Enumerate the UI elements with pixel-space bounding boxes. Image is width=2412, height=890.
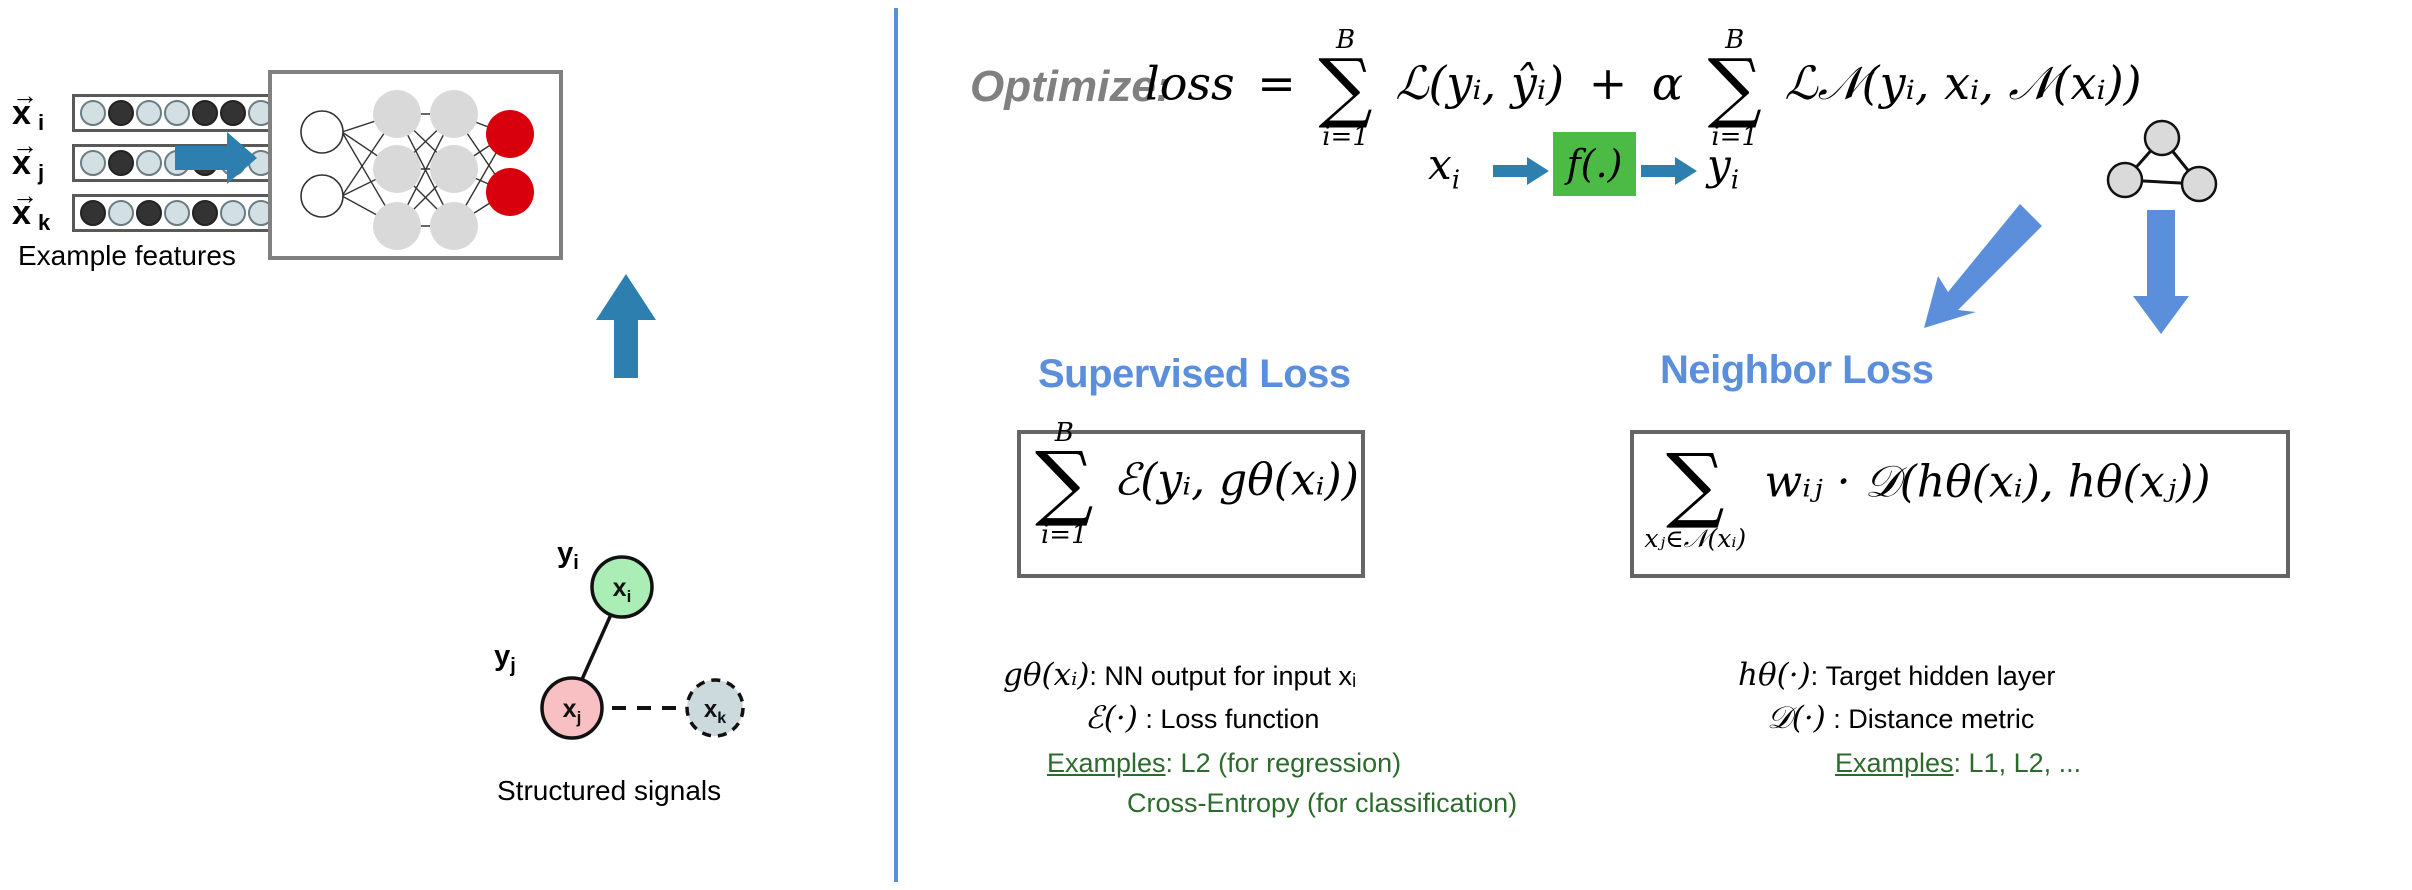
feature-bit — [164, 100, 190, 126]
vector-label: → x k — [8, 188, 60, 240]
supervised-sum-upper: B — [1055, 418, 1074, 448]
formula-term-2: ℒ𝒩(yᵢ, xᵢ, 𝒩(xᵢ)) — [1776, 56, 2141, 110]
neural-network-box — [268, 70, 563, 260]
feature-bit — [136, 200, 162, 226]
vector-label-base: x — [12, 96, 31, 130]
supervised-examples-text-1: : L2 (for regression) — [1166, 748, 1402, 778]
neighbor-loss-formula: ∑ xⱼ∈𝒩(xᵢ) wᵢⱼ · 𝒟(hθ(xᵢ), hθ(xⱼ)) — [1666, 450, 2210, 520]
structured-signals-caption: Structured signals — [497, 775, 721, 807]
formula-term-1: ℒ(yᵢ, ŷᵢ) — [1387, 56, 1564, 110]
vector-label-subscript: j — [38, 162, 44, 184]
formula-plus: + — [1579, 56, 1638, 110]
optimize-label: Optimize: — [970, 62, 1170, 112]
main-loss-formula: loss = B ∑ i=1 ℒ(yᵢ, ŷᵢ) + α B ∑ i=1 ℒ𝒩(… — [1145, 55, 2142, 120]
feature-bit — [220, 100, 246, 126]
graph-label-yi: yi — [557, 537, 579, 574]
feature-bit — [220, 200, 246, 226]
supervised-legend-1-math: gθ(xᵢ) — [1003, 657, 1089, 693]
neighbor-legend-line-2: 𝒟(·) : Distance metric — [1767, 700, 2034, 737]
supervised-examples-label: Examples — [1047, 748, 1166, 778]
supervised-legend-1-text: : NN output for input xᵢ — [1089, 661, 1356, 691]
nn-hidden-node — [373, 202, 421, 250]
vector-label-subscript: i — [38, 112, 44, 134]
supervised-branch-arrow-icon — [1910, 200, 2050, 335]
supervised-examples-line-1: Examples: L2 (for regression) — [1047, 748, 1401, 779]
feature-bit — [136, 100, 162, 126]
supervised-loss-box: B ∑ i=1 ℰ(yᵢ, gθ(xᵢ)) — [1017, 430, 1365, 578]
structured-signals-graph: xi xj xk yi yj — [480, 500, 800, 760]
supervised-legend-2-text: : Loss function — [1138, 704, 1320, 734]
nn-output-node — [486, 110, 534, 158]
neighbor-legend-line-1: hθ(·): Target hidden layer — [1738, 657, 2055, 693]
feature-bit-container — [72, 194, 284, 232]
nn-hidden-node — [430, 202, 478, 250]
feature-bit — [136, 150, 162, 176]
summation-1: B ∑ i=1 — [1318, 55, 1372, 120]
formula-lhs: loss — [1145, 56, 1235, 110]
summation-1-upper: B — [1336, 25, 1355, 55]
nn-hidden-node — [373, 145, 421, 193]
supervised-loss-formula: B ∑ i=1 ℰ(yᵢ, gθ(xᵢ)) — [1035, 448, 1359, 518]
left-panel: → x i → x j — [0, 0, 895, 890]
example-features-caption: Example features — [18, 240, 236, 272]
nn-output-node — [486, 168, 534, 216]
neighbor-examples-label: Examples — [1835, 748, 1954, 778]
supervised-summation: B ∑ i=1 — [1035, 448, 1094, 518]
feature-bit — [108, 200, 134, 226]
nn-hidden-node — [430, 90, 478, 138]
neighbor-sum-lower: xⱼ∈𝒩(xᵢ) — [1644, 524, 1746, 554]
function-box: f(.) — [1553, 132, 1636, 196]
supervised-loss-title: Supervised Loss — [1038, 352, 1351, 397]
neighbor-loss-title: Neighbor Loss — [1660, 348, 1934, 393]
neighbor-branch-arrow-icon — [2133, 210, 2193, 338]
features-to-network-arrow-icon — [175, 128, 275, 198]
feature-bit — [164, 200, 190, 226]
feature-bit — [80, 100, 106, 126]
summation-1-lower: i=1 — [1322, 122, 1369, 152]
formula-equals: = — [1249, 56, 1304, 110]
vector-label-subscript: k — [38, 212, 50, 234]
neighbor-legend-2-math: 𝒟(·) — [1767, 700, 1826, 736]
signals-to-network-arrow-icon — [594, 274, 664, 384]
feature-bit — [80, 150, 106, 176]
summation-2-upper: B — [1725, 25, 1744, 55]
supervised-loss-body: ℰ(yᵢ, gθ(xᵢ)) — [1114, 454, 1359, 505]
neighbor-legend-1-text: : Target hidden layer — [1811, 661, 2056, 691]
nn-hidden-node — [430, 145, 478, 193]
graph-label-yj: yj — [494, 640, 516, 677]
neighbor-examples-text-1: : L1, L2, ... — [1954, 748, 2082, 778]
neighbor-legend-1-math: hθ(·) — [1738, 657, 1811, 693]
supervised-legend-line-2: ℰ(·) : Loss function — [1085, 700, 1319, 736]
pipeline-output-label: yi — [1707, 140, 1739, 195]
neighbor-loss-body: wᵢⱼ · 𝒟(hθ(xᵢ), hθ(xⱼ)) — [1765, 456, 2211, 507]
vector-label-base: x — [12, 146, 31, 180]
neighbor-examples-line-1: Examples: L1, L2, ... — [1835, 748, 2081, 779]
supervised-legend-line-1: gθ(xᵢ): NN output for input xᵢ — [1003, 657, 1356, 693]
supervised-sum-lower: i=1 — [1041, 520, 1088, 550]
nn-input-node — [301, 175, 343, 217]
pipeline-arrow-in-icon — [1493, 155, 1551, 187]
feature-bit — [192, 100, 218, 126]
pipeline-arrow-out-icon — [1641, 155, 1699, 187]
neighbor-legend-2-text: : Distance metric — [1826, 704, 2035, 734]
feature-bit — [192, 200, 218, 226]
mini-graph-icon — [2107, 118, 2217, 208]
nn-input-node — [301, 111, 343, 153]
neighbor-loss-box: ∑ xⱼ∈𝒩(xᵢ) wᵢⱼ · 𝒟(hθ(xᵢ), hθ(xⱼ)) — [1630, 430, 2290, 578]
supervised-legend-2-math: ℰ(·) — [1085, 700, 1138, 736]
pipeline-input-label: xi — [1428, 140, 1460, 195]
nn-hidden-node — [373, 90, 421, 138]
feature-bit-container — [72, 94, 284, 132]
neural-network-diagram — [272, 74, 559, 256]
feature-bit — [108, 150, 134, 176]
vector-label-base: x — [12, 196, 31, 230]
supervised-examples-line-2: Cross-Entropy (for classification) — [1127, 788, 1517, 819]
neighbor-summation: ∑ xⱼ∈𝒩(xᵢ) — [1666, 450, 1725, 520]
feature-bit — [108, 100, 134, 126]
summation-2: B ∑ i=1 — [1708, 55, 1762, 120]
right-panel: Optimize: loss = B ∑ i=1 ℒ(yᵢ, ŷᵢ) + α B… — [895, 0, 2412, 890]
formula-alpha: α — [1652, 56, 1683, 110]
feature-bit — [80, 200, 106, 226]
